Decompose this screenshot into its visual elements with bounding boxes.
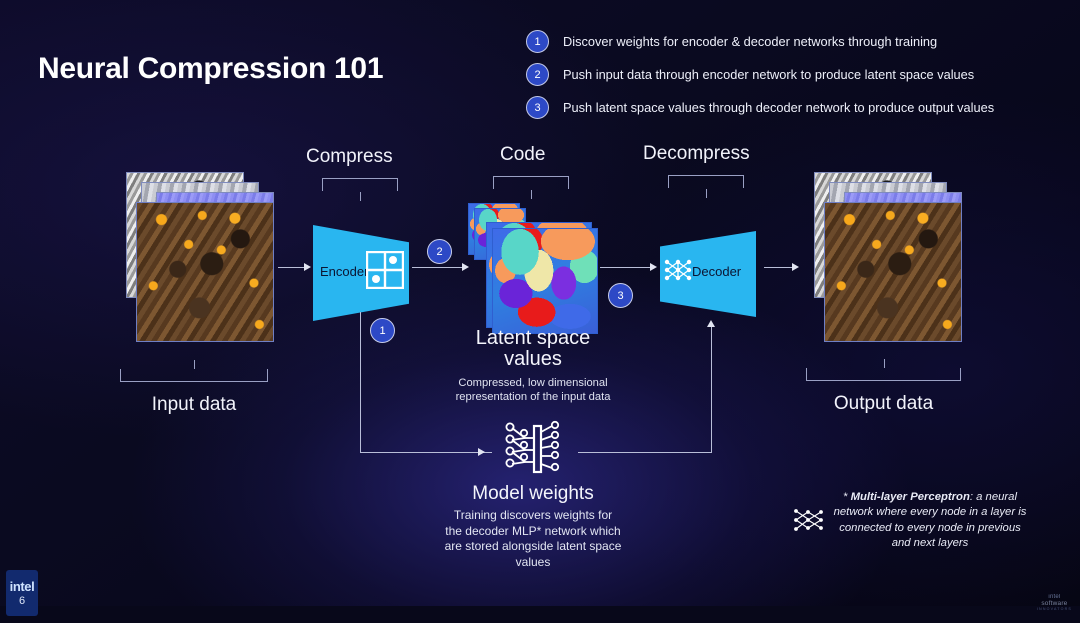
neural-network-icon [790, 503, 828, 537]
step-label-1: Discover weights for encoder & decoder n… [563, 34, 937, 49]
neural-network-icon [662, 255, 694, 285]
connector-input-encoder [278, 267, 306, 268]
intel-wordmark: intel [10, 580, 35, 593]
model-weights-sub-line4: values [420, 555, 646, 571]
diagram-badge-1: 1 [370, 318, 395, 343]
connector-to-model-weights [360, 452, 492, 453]
intel-software-innovators-logo: intel software INNOVATORS [1037, 594, 1072, 611]
footer-bar [0, 606, 1080, 623]
slide-canvas: Neural Compression 101 1 Discover weight… [0, 0, 1080, 623]
step-item-3: 3 Push latent space values through decod… [526, 96, 1066, 119]
section-label-code: Code [500, 144, 545, 166]
bracket-output-data [806, 368, 961, 381]
latent-title-line2: values [430, 349, 636, 370]
input-sheet-4 [136, 202, 274, 342]
latent-space-caption: Latent space values Compressed, low dime… [430, 328, 636, 405]
steps-list: 1 Discover weights for encoder & decoder… [526, 30, 1066, 129]
latent-sub-line2: representation of the input data [430, 390, 636, 404]
output-data-label: Output data [806, 393, 961, 415]
model-weights-sub-line2: the decoder MLP* network which [420, 524, 646, 540]
bracket-input-data [120, 369, 268, 382]
output-sheet-4 [824, 202, 962, 342]
encoder-label: Encoder [320, 264, 368, 279]
section-label-compress: Compress [306, 146, 393, 168]
connector-up-decoder [711, 326, 712, 453]
step-item-1: 1 Discover weights for encoder & decoder… [526, 30, 1066, 53]
footnote-mlp: * Multi-layer Perceptron: a neural netwo… [830, 490, 1030, 551]
bracket-code [493, 176, 569, 189]
connector-latent-decoder [600, 267, 652, 268]
decoder-label: Decoder [692, 264, 741, 279]
output-image-stack [796, 172, 966, 337]
diagram-badge-2: 2 [427, 239, 452, 264]
intel-logo: intel 6 [6, 570, 38, 616]
input-data-label: Input data [120, 394, 268, 416]
step-label-3: Push latent space values through decoder… [563, 100, 994, 115]
step-label-2: Push input data through encoder network … [563, 67, 974, 82]
latent-image-large-front [492, 228, 598, 334]
connector-encoder-down [360, 312, 361, 453]
mlp-chip-icon [500, 418, 570, 480]
arrowhead-input-encoder [304, 263, 311, 271]
model-weights-title: Model weights [420, 483, 646, 505]
grid-2x2-icon [366, 251, 404, 289]
connector-encoder-latent [412, 267, 464, 268]
step-badge-1: 1 [526, 30, 549, 53]
brand-line-2: software [1037, 600, 1072, 607]
input-image-stack [108, 172, 278, 337]
connector-from-model-weights [578, 452, 712, 453]
connector-decoder-output [764, 267, 794, 268]
step-item-2: 2 Push input data through encoder networ… [526, 63, 1066, 86]
model-weights-caption: Model weights Training discovers weights… [420, 483, 646, 570]
arrowhead-up-decoder [707, 320, 715, 327]
arrowhead-encoder-latent [462, 263, 469, 271]
step-badge-2: 2 [526, 63, 549, 86]
page-title: Neural Compression 101 [38, 52, 383, 86]
bracket-compress [322, 178, 398, 191]
step-badge-3: 3 [526, 96, 549, 119]
latent-sub-line1: Compressed, low dimensional [430, 376, 636, 390]
footnote-marker: * [843, 491, 851, 503]
model-weights-sub-line1: Training discovers weights for [420, 508, 646, 524]
section-label-decompress: Decompress [643, 143, 750, 165]
model-weights-sub-line3: are stored alongside latent space [420, 539, 646, 555]
latent-title-line1: Latent space [430, 328, 636, 349]
bracket-decompress [668, 175, 744, 188]
arrowhead-latent-decoder [650, 263, 657, 271]
brand-line-3: INNOVATORS [1037, 607, 1072, 611]
page-number: 6 [19, 596, 25, 607]
arrowhead-model-weights [478, 448, 485, 456]
diagram-badge-3: 3 [608, 283, 633, 308]
footnote-term: Multi-layer Perceptron [851, 491, 970, 503]
